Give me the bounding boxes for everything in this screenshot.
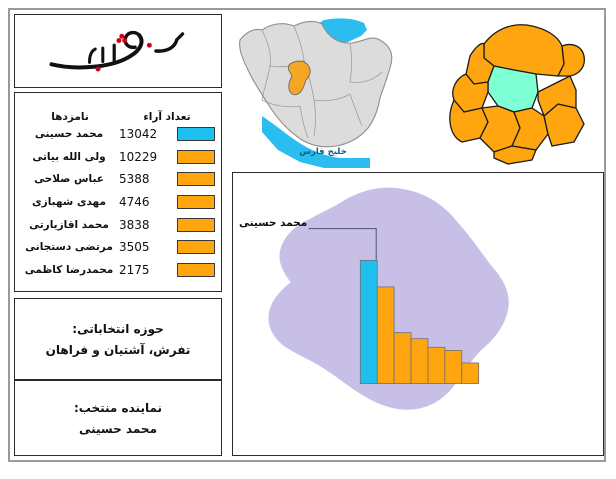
candidate-name: عباس صلاحی	[21, 173, 117, 185]
table-row: 3505مرتضی دستجانی	[19, 236, 217, 259]
column-header-votes: تعداد آراء	[119, 111, 215, 123]
column-header-candidates: نامزدها	[21, 111, 119, 123]
candidate-name: محمد حسینی	[21, 128, 117, 140]
tabnak-logo	[15, 15, 221, 87]
county-selected-tafresh	[488, 66, 538, 112]
candidate-vote-count: 13042	[117, 127, 173, 141]
iran-country-map: خلیج فارس	[228, 12, 418, 170]
candidate-color-swatch	[177, 263, 215, 277]
candidate-vote-count: 4746	[117, 195, 173, 209]
results-chart-panel: محمد حسینی	[232, 172, 604, 456]
candidate-color-swatch	[177, 172, 215, 186]
table-row: 3838محمد اقازیارتی	[19, 213, 217, 236]
table-header-row: تعداد آراء نامزدها	[19, 99, 217, 123]
table-body: 13042محمد حسینی10229ولی الله بیاتی5388عب…	[19, 123, 217, 281]
table-row: 4746مهدی شهبازی	[19, 191, 217, 214]
candidate-name: مرتضی دستجانی	[21, 241, 117, 253]
candidate-vote-count: 3838	[117, 218, 173, 232]
candidate-color-swatch	[177, 218, 215, 232]
elected-representative-panel: نماینده منتخب: محمد حسینی	[14, 380, 222, 456]
markazi-province-map	[440, 12, 606, 170]
candidate-color-swatch	[177, 127, 215, 141]
poster-root: تعداد آراء نامزدها 13042محمد حسینی10229و…	[0, 0, 616, 479]
table-row: 10229ولی الله بیاتی	[19, 146, 217, 169]
table-row: 5388عباس صلاحی	[19, 168, 217, 191]
candidate-name: محمد اقازیارتی	[21, 219, 117, 231]
district-label: حوزه انتخاباتی:	[72, 322, 163, 336]
candidate-name: ولی الله بیاتی	[21, 151, 117, 163]
logo-panel	[14, 14, 222, 88]
electoral-district-panel: حوزه انتخاباتی: تفرش، آشتیان و فراهان	[14, 298, 222, 380]
bar-6	[445, 350, 462, 383]
candidate-name: محمدرضا کاظمی	[21, 264, 117, 276]
candidate-vote-count: 5388	[117, 172, 173, 186]
candidate-vote-count: 10229	[117, 150, 173, 164]
candidate-vote-count: 2175	[117, 263, 173, 277]
bar-5	[428, 347, 445, 383]
district-value: تفرش، آشتیان و فراهان	[46, 343, 191, 357]
bar-3	[394, 333, 411, 384]
candidate-color-swatch	[177, 195, 215, 209]
table-row: 2175محمدرضا کاظمی	[19, 259, 217, 282]
candidate-vote-count: 3505	[117, 240, 173, 254]
persian-gulf-label: خلیج فارس	[299, 147, 347, 157]
chart-annotation-label: محمد حسینی	[239, 217, 315, 229]
bar-2	[377, 287, 394, 384]
representative-value: محمد حسینی	[79, 422, 157, 436]
representative-label: نماینده منتخب:	[74, 401, 162, 415]
chart-stage: محمد حسینی	[233, 173, 603, 455]
candidate-color-swatch	[177, 240, 215, 254]
candidates-table: تعداد آراء نامزدها 13042محمد حسینی10229و…	[15, 93, 221, 291]
candidate-color-swatch	[177, 150, 215, 164]
candidate-name: مهدی شهبازی	[21, 196, 117, 208]
bar-7	[462, 363, 479, 384]
bar-4	[411, 339, 428, 384]
bar-1	[360, 260, 377, 383]
candidates-table-panel: تعداد آراء نامزدها 13042محمد حسینی10229و…	[14, 92, 222, 292]
table-row: 13042محمد حسینی	[19, 123, 217, 146]
